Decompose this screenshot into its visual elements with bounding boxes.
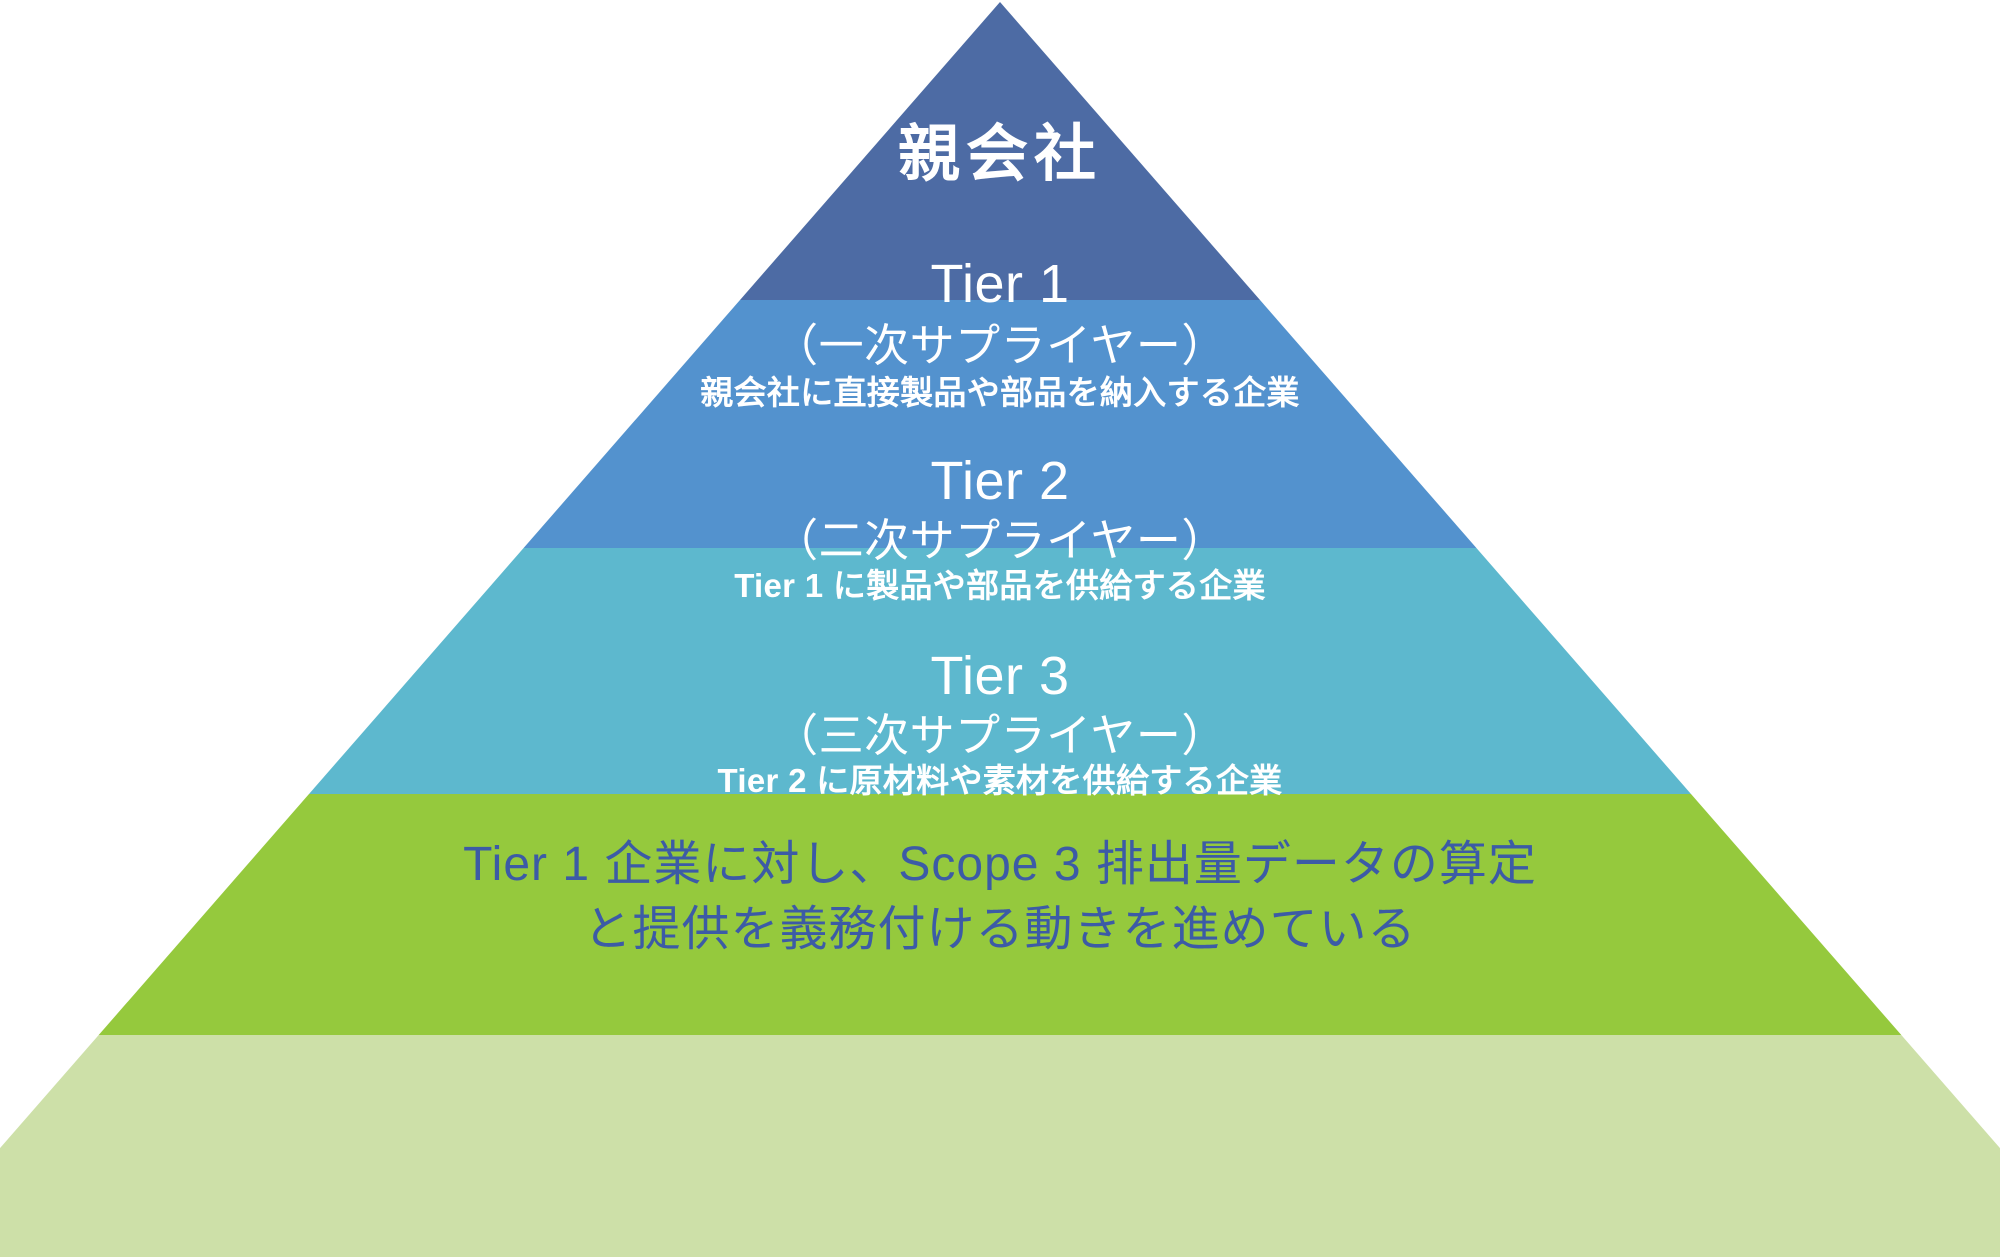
pyramid-bottom-note: Tier 1 企業に対し、Scope 3 排出量データの算定 と提供を義務付ける… bbox=[0, 833, 2000, 963]
pyramid-band-tier2 bbox=[309, 548, 1691, 794]
pyramid-bottom-note-line1: Tier 1 企業に対し、Scope 3 排出量データの算定 bbox=[0, 833, 2000, 898]
pyramid-band-tier1 bbox=[524, 300, 1477, 548]
pyramid-bottom-note-line2: と提供を義務付ける動きを進めている bbox=[0, 898, 2000, 963]
pyramid-diagram-canvas: 親会社 Tier 1 （一次サプライヤー） 親会社に直接製品や部品を納入する企業… bbox=[0, 0, 2000, 1257]
pyramid-band-parent bbox=[740, 2, 1260, 300]
pyramid-band-note bbox=[0, 1035, 2000, 1257]
pyramid-shape-group bbox=[0, 0, 2000, 1257]
